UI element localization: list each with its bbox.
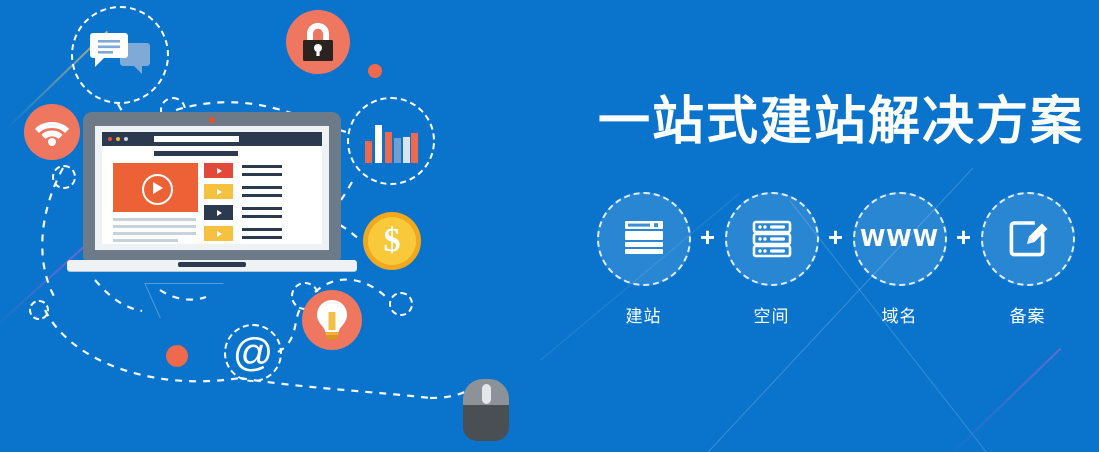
step-circle[interactable]: [725, 192, 819, 286]
play-icon: [217, 189, 222, 195]
bar-chart-circle: [347, 97, 435, 185]
article-text-lines: [113, 218, 196, 246]
plus-separator-2: +: [819, 192, 852, 282]
laptop-trackpad: [178, 262, 246, 267]
decor-dot-coral-2: [166, 345, 188, 367]
chat-bubbles-circle: [71, 6, 169, 104]
website-window-icon: [623, 218, 665, 260]
play-icon: [217, 168, 222, 174]
mouse-body: [463, 403, 509, 441]
play-icon: [153, 182, 163, 194]
right-content: 一站式建站解决方案 建站 +: [560, 0, 1099, 452]
padlock-icon: [298, 21, 338, 63]
step-circle[interactable]: WWW: [853, 192, 947, 286]
mouse-scroll-wheel: [482, 384, 491, 404]
steps-row: 建站 +: [596, 192, 1096, 327]
laptop-camera-dot: [209, 117, 215, 123]
step-circle[interactable]: [981, 192, 1075, 286]
computer-mouse-icon: [463, 379, 509, 441]
step-item-yuming[interactable]: WWW 域名: [852, 192, 947, 327]
hero-banner: @: [0, 0, 1099, 452]
play-icon: [217, 210, 222, 216]
page-title: 一站式建站解决方案: [598, 96, 1098, 148]
lock-badge: [286, 10, 350, 74]
bar-chart-icon: [363, 119, 419, 163]
step-label: 备案: [1010, 302, 1046, 327]
browser-dot-yellow: [116, 137, 120, 141]
decor-dashed-dot-3: [52, 165, 76, 189]
decor-dashed-dot-5: [29, 300, 49, 320]
step-item-jianzhan[interactable]: 建站: [596, 192, 691, 327]
laptop-screen: [95, 126, 329, 250]
thumbnail-card: [204, 226, 233, 241]
step-circle[interactable]: [597, 192, 691, 286]
lightbulb-icon: [315, 298, 349, 342]
play-icon: [217, 231, 222, 237]
www-text-icon: WWW: [860, 226, 939, 252]
step-label: 建站: [626, 302, 662, 327]
coin-badge: $: [363, 212, 421, 270]
browser-dot-red: [108, 137, 112, 141]
laptop-lid: [83, 112, 341, 260]
chat-bubbles-icon: [89, 31, 151, 79]
lightbulb-badge: [302, 290, 362, 350]
left-illustration: @: [0, 0, 560, 452]
step-label: 域名: [882, 302, 918, 327]
browser-subheading-bar: [154, 151, 238, 156]
thumbnail-card: [204, 163, 233, 178]
plus-separator-1: +: [691, 192, 724, 282]
dollar-sign-icon: $: [384, 224, 401, 258]
step-label: 空间: [754, 302, 790, 327]
decor-dashed-dot-4: [389, 292, 413, 316]
edit-pencil-icon: [1007, 218, 1049, 260]
thumbnail-card: [204, 205, 233, 220]
laptop-illustration: [83, 112, 341, 274]
at-sign-circle: @: [224, 324, 282, 382]
browser-dot-grey: [124, 137, 128, 141]
browser-url-bar: [154, 136, 239, 142]
browser-titlebar: [102, 132, 322, 146]
plus-separator-3: +: [947, 192, 980, 282]
at-sign-icon: @: [233, 333, 274, 373]
video-player: [113, 163, 198, 212]
step-item-beian[interactable]: 备案: [980, 192, 1075, 327]
server-rack-icon: [751, 218, 793, 260]
wifi-badge: [24, 104, 80, 160]
decor-dot-coral-1: [368, 64, 382, 78]
wifi-icon: [34, 118, 70, 146]
browser-window: [102, 132, 322, 244]
thumbnail-card: [204, 184, 233, 199]
step-item-kongjian[interactable]: 空间: [724, 192, 819, 327]
